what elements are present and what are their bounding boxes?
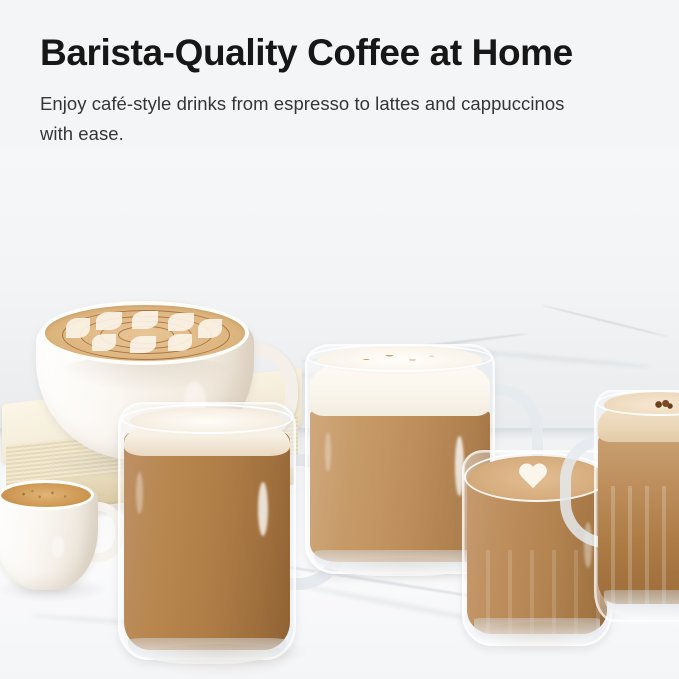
latte-liquid [124,432,290,650]
tumbler-ribs [598,486,679,606]
espresso-cup-rim [0,480,94,510]
counter-reflection [320,558,490,584]
mug-rim [121,404,293,434]
cup-rim [41,301,249,365]
counter-reflection [130,644,310,679]
glass-highlight [136,472,143,514]
counter-reflection [470,622,610,654]
promo-banner: Barista-Quality Coffee at Home Enjoy caf… [0,0,679,679]
ribbed-glass-tumbler [594,390,679,626]
espresso-cup-highlight [52,536,64,558]
product-photo [0,150,679,679]
latte-glass-mug [118,402,308,672]
mug-rim [307,344,493,372]
espresso-cup [0,480,106,600]
page-title: Barista-Quality Coffee at Home [40,32,660,73]
text-block: Barista-Quality Coffee at Home Enjoy caf… [40,32,660,149]
glass-highlight [325,432,331,472]
page-subtitle: Enjoy café-style drinks from espresso to… [40,89,600,149]
glass-highlight [258,482,268,536]
